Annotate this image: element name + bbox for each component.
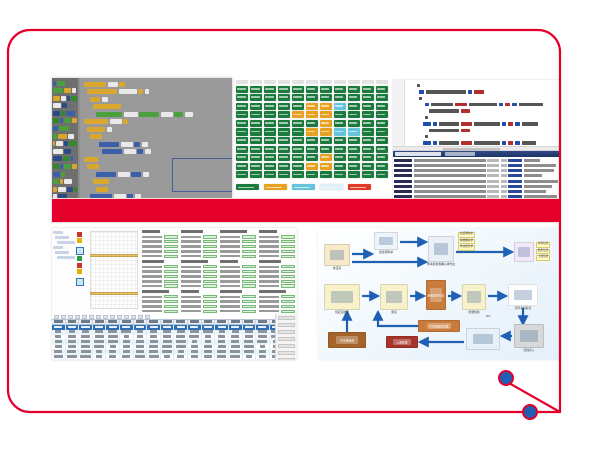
- property-value[interactable]: [164, 300, 179, 303]
- table-cell[interactable]: [174, 360, 188, 361]
- property-value[interactable]: [164, 295, 179, 298]
- property-value[interactable]: [203, 275, 218, 278]
- palette-block[interactable]: [53, 171, 77, 177]
- property-value[interactable]: [203, 265, 218, 268]
- table-toolbar-button[interactable]: [138, 315, 143, 319]
- device-node-2-icon[interactable]: [76, 278, 84, 286]
- table-column-header[interactable]: [161, 320, 175, 324]
- table-cell[interactable]: [134, 330, 148, 334]
- status-grid-cell-green[interactable]: [306, 154, 318, 161]
- code-block[interactable]: [96, 111, 230, 117]
- table-cell[interactable]: [202, 335, 216, 339]
- table-cell[interactable]: [161, 355, 175, 359]
- table-cell[interactable]: [215, 330, 229, 334]
- table-cell[interactable]: [202, 340, 216, 344]
- property-value[interactable]: [281, 270, 296, 273]
- table-cell[interactable]: [243, 360, 257, 361]
- palette-block[interactable]: [53, 110, 77, 116]
- table-cell[interactable]: [256, 340, 270, 344]
- status-grid-cell-green[interactable]: [306, 120, 318, 127]
- status-grid-cell-green[interactable]: [236, 103, 248, 110]
- property-value[interactable]: [203, 245, 218, 248]
- table-column-header[interactable]: [52, 320, 66, 324]
- table-cell[interactable]: [256, 330, 270, 334]
- table-cell[interactable]: [202, 350, 216, 354]
- table-cell[interactable]: [147, 350, 161, 354]
- table-cell[interactable]: [93, 350, 107, 354]
- table-cell[interactable]: [79, 355, 93, 359]
- status-grid-cell-green[interactable]: [376, 128, 388, 135]
- table-column-header[interactable]: [256, 320, 270, 324]
- status-grid-cell-green[interactable]: [348, 171, 360, 178]
- table-side-button[interactable]: [278, 337, 295, 341]
- status-grid-cell-green[interactable]: [250, 103, 262, 110]
- property-value[interactable]: [164, 255, 179, 258]
- status-grid-cell-orange[interactable]: [320, 103, 332, 110]
- table-side-button[interactable]: [278, 358, 295, 360]
- table-toolbar-button[interactable]: [54, 315, 59, 319]
- property-value[interactable]: [164, 265, 179, 268]
- tree-node[interactable]: [53, 246, 63, 249]
- table-row[interactable]: [52, 360, 297, 361]
- status-grid-cell-green[interactable]: [320, 86, 332, 93]
- status-grid-cell-green[interactable]: [306, 146, 318, 153]
- status-grid-cell-green[interactable]: [264, 94, 276, 101]
- status-grid-cell-orange[interactable]: [320, 128, 332, 135]
- property-value[interactable]: [281, 280, 296, 283]
- table-column-header[interactable]: [93, 320, 107, 324]
- table-cell[interactable]: [52, 355, 66, 359]
- table-cell[interactable]: [147, 345, 161, 349]
- status-grid-cell-green[interactable]: [278, 146, 290, 153]
- property-value[interactable]: [203, 295, 218, 298]
- table-cell[interactable]: [93, 340, 107, 344]
- table-cell[interactable]: [134, 345, 148, 349]
- code-block[interactable]: [84, 81, 230, 87]
- palette-block[interactable]: [53, 103, 77, 109]
- property-value[interactable]: [281, 305, 296, 308]
- status-grid-cell-orange[interactable]: [306, 103, 318, 110]
- table-cell[interactable]: [134, 335, 148, 339]
- table-cell[interactable]: [93, 360, 107, 361]
- status-grid-cell-green[interactable]: [250, 154, 262, 161]
- table-cell[interactable]: [120, 355, 134, 359]
- table-column-header[interactable]: [215, 320, 229, 324]
- flow-node-delivery-notice[interactable]: 送货通知单: [374, 232, 398, 254]
- table-cell[interactable]: [93, 335, 107, 339]
- table-cell[interactable]: [243, 330, 257, 334]
- status-grid-cell-green[interactable]: [348, 86, 360, 93]
- code-block[interactable]: [84, 119, 230, 125]
- code-block[interactable]: [99, 141, 230, 147]
- table-cell[interactable]: [229, 345, 243, 349]
- property-value[interactable]: [281, 240, 296, 243]
- table-cell[interactable]: [106, 345, 120, 349]
- table-column-header[interactable]: [229, 320, 243, 324]
- table-cell[interactable]: [174, 350, 188, 354]
- property-value[interactable]: [281, 265, 296, 268]
- status-grid-cell-green[interactable]: [292, 103, 304, 110]
- tree-node[interactable]: [55, 251, 69, 254]
- status-grid-cell-green[interactable]: [292, 120, 304, 127]
- status-grid-cell-green[interactable]: [320, 171, 332, 178]
- status-grid-cell-green[interactable]: [236, 111, 248, 118]
- status-grid-cell-green[interactable]: [278, 111, 290, 118]
- status-grid-cell-green[interactable]: [320, 146, 332, 153]
- property-value[interactable]: [203, 255, 218, 258]
- status-grid-cell-green[interactable]: [292, 146, 304, 153]
- table-toolbar-button[interactable]: [61, 315, 66, 319]
- palette-block[interactable]: [53, 118, 77, 124]
- palette-block[interactable]: [53, 148, 77, 154]
- status-grid-cell-green[interactable]: [250, 111, 262, 118]
- table-cell[interactable]: [120, 335, 134, 339]
- table-side-button[interactable]: [278, 323, 295, 327]
- status-grid-cell-cyan[interactable]: [334, 103, 346, 110]
- table-toolbar-button[interactable]: [117, 315, 122, 319]
- status-grid-cell-green[interactable]: [278, 137, 290, 144]
- source-code-editor-with-log-console[interactable]: [393, 80, 560, 200]
- property-value[interactable]: [242, 270, 257, 273]
- table-column-header[interactable]: [66, 320, 80, 324]
- table-cell[interactable]: [52, 360, 66, 361]
- table-cell[interactable]: [66, 345, 80, 349]
- status-grid-cell-green[interactable]: [376, 103, 388, 110]
- flow-node-barcode-label[interactable]: 打印条码标签: [508, 284, 538, 310]
- status-grid-cell-green[interactable]: [236, 120, 248, 127]
- status-grid-cell-green[interactable]: [334, 171, 346, 178]
- property-value[interactable]: [281, 275, 296, 278]
- status-grid-cell-orange[interactable]: [320, 120, 332, 127]
- property-value[interactable]: [203, 284, 218, 287]
- status-grid-cell-green[interactable]: [236, 154, 248, 161]
- status-grid-cell-green[interactable]: [292, 128, 304, 135]
- table-column-header[interactable]: [202, 320, 216, 324]
- property-value[interactable]: [164, 250, 179, 253]
- table-rows[interactable]: [52, 330, 297, 361]
- table-cell[interactable]: [174, 335, 188, 339]
- table-cell[interactable]: [243, 355, 257, 359]
- table-cell[interactable]: [215, 360, 229, 361]
- table-cell[interactable]: [147, 330, 161, 334]
- table-cell[interactable]: [202, 355, 216, 359]
- table-cell[interactable]: [202, 345, 216, 349]
- flow-node-supplier-desk[interactable]: 供应商: [324, 244, 350, 270]
- status-grid-cell-green[interactable]: [362, 103, 374, 110]
- code-block[interactable]: [90, 134, 230, 140]
- table-cell[interactable]: [106, 340, 120, 344]
- status-grid-cell-green[interactable]: [320, 137, 332, 144]
- table-cell[interactable]: [215, 340, 229, 344]
- table-column-header[interactable]: [243, 320, 257, 324]
- property-value[interactable]: [281, 245, 296, 248]
- status-grid-cell-green[interactable]: [250, 86, 262, 93]
- status-grid-cell-green[interactable]: [250, 146, 262, 153]
- table-toolbar-button[interactable]: [124, 315, 129, 319]
- table-cell[interactable]: [174, 340, 188, 344]
- status-grid-cell-green[interactable]: [278, 120, 290, 127]
- table-side-action-buttons[interactable]: [275, 314, 297, 360]
- status-grid-cell-green[interactable]: [236, 94, 248, 101]
- status-grid-cell-green[interactable]: [348, 163, 360, 170]
- table-cell[interactable]: [243, 345, 257, 349]
- status-grid-cell-green[interactable]: [264, 154, 276, 161]
- status-grid-cell-green[interactable]: [362, 120, 374, 127]
- table-cell[interactable]: [106, 360, 120, 361]
- table-cell[interactable]: [52, 340, 66, 344]
- table-cell[interactable]: [188, 345, 202, 349]
- property-value[interactable]: [203, 270, 218, 273]
- table-cell[interactable]: [161, 350, 175, 354]
- table-cell[interactable]: [256, 335, 270, 339]
- status-grid-cell-green[interactable]: [278, 103, 290, 110]
- code-block[interactable]: [93, 104, 230, 110]
- tree-node[interactable]: [53, 231, 63, 234]
- table-cell[interactable]: [215, 345, 229, 349]
- status-grid-cell-green[interactable]: [306, 86, 318, 93]
- log-row[interactable]: [394, 189, 559, 194]
- status-grid-cell-green[interactable]: [250, 171, 262, 178]
- status-grid-cell-green[interactable]: [348, 94, 360, 101]
- property-value[interactable]: [164, 284, 179, 287]
- table-toolbar-button[interactable]: [145, 315, 150, 319]
- log-row[interactable]: [394, 158, 559, 163]
- layout-grid-canvas[interactable]: [90, 231, 138, 309]
- property-value[interactable]: [242, 245, 257, 248]
- status-grid-cell-green[interactable]: [334, 120, 346, 127]
- table-cell[interactable]: [120, 340, 134, 344]
- status-grid-cell-green[interactable]: [264, 163, 276, 170]
- status-grid-cell-green[interactable]: [320, 94, 332, 101]
- table-cell[interactable]: [215, 355, 229, 359]
- status-grid-cell-green[interactable]: [236, 146, 248, 153]
- status-grid-cell-green[interactable]: [264, 137, 276, 144]
- status-grid-cell-green[interactable]: [334, 163, 346, 170]
- status-grid-cell-green[interactable]: [292, 94, 304, 101]
- table-toolbar-button[interactable]: [96, 315, 101, 319]
- table-cell[interactable]: [188, 360, 202, 361]
- log-row[interactable]: [394, 163, 559, 168]
- table-cell[interactable]: [229, 340, 243, 344]
- table-cell[interactable]: [188, 355, 202, 359]
- status-grid-cell-green[interactable]: [264, 171, 276, 178]
- status-grid-cell-green[interactable]: [264, 86, 276, 93]
- table-cell[interactable]: [161, 345, 175, 349]
- tree-node[interactable]: [57, 241, 75, 244]
- property-value[interactable]: [281, 310, 296, 313]
- table-cell[interactable]: [229, 350, 243, 354]
- table-cell[interactable]: [134, 340, 148, 344]
- status-grid-cell-green[interactable]: [250, 137, 262, 144]
- palette-block[interactable]: [53, 179, 77, 185]
- configuration-tree[interactable]: [53, 231, 71, 261]
- status-grid-cell-green[interactable]: [278, 128, 290, 135]
- table-cell[interactable]: [106, 355, 120, 359]
- palette-block[interactable]: [53, 194, 77, 198]
- status-grid-cell-green[interactable]: [334, 111, 346, 118]
- tree-node[interactable]: [57, 256, 75, 259]
- property-value[interactable]: [164, 275, 179, 278]
- flow-node-reject-area[interactable]: 不合格品暂存区: [418, 320, 460, 332]
- status-grid-cell-green[interactable]: [362, 146, 374, 153]
- table-cell[interactable]: [147, 360, 161, 361]
- device-node-icon[interactable]: [76, 247, 84, 255]
- table-cell[interactable]: [147, 340, 161, 344]
- property-value[interactable]: [281, 295, 296, 298]
- status-grid-cell-orange[interactable]: [306, 111, 318, 118]
- blocks-palette[interactable]: [52, 78, 78, 198]
- table-cell[interactable]: [52, 350, 66, 354]
- status-grid-cell-green[interactable]: [376, 146, 388, 153]
- table-cell[interactable]: [79, 335, 93, 339]
- log-row[interactable]: [394, 179, 559, 184]
- status-grid-cell-green[interactable]: [376, 94, 388, 101]
- table-cell[interactable]: [174, 355, 188, 359]
- table-cell[interactable]: [243, 350, 257, 354]
- status-grid-cell-orange[interactable]: [320, 154, 332, 161]
- code-block[interactable]: [90, 194, 230, 199]
- table-cell[interactable]: [106, 350, 120, 354]
- property-value[interactable]: [203, 250, 218, 253]
- status-grid-cell-cyan[interactable]: [348, 128, 360, 135]
- status-grid-cell-orange[interactable]: [292, 111, 304, 118]
- table-cell[interactable]: [229, 360, 243, 361]
- table-cell[interactable]: [66, 335, 80, 339]
- table-cell[interactable]: [161, 360, 175, 361]
- table-column-header[interactable]: [147, 320, 161, 324]
- status-grid-cell-green[interactable]: [348, 120, 360, 127]
- property-value[interactable]: [164, 310, 179, 313]
- status-grid-cell-green[interactable]: [348, 103, 360, 110]
- table-column-header[interactable]: [134, 320, 148, 324]
- property-value[interactable]: [242, 280, 257, 283]
- property-value[interactable]: [164, 235, 179, 238]
- status-grid-cell-green[interactable]: [250, 120, 262, 127]
- table-cell[interactable]: [66, 330, 80, 334]
- flow-node-putaway[interactable]: [466, 328, 500, 350]
- table-cell[interactable]: [79, 345, 93, 349]
- status-grid-cell-green[interactable]: [376, 120, 388, 127]
- table-cell[interactable]: [147, 355, 161, 359]
- status-grid-cell-green[interactable]: [348, 146, 360, 153]
- status-grid-cell-green[interactable]: [278, 94, 290, 101]
- data-table[interactable]: [52, 314, 297, 360]
- palette-block[interactable]: [53, 95, 77, 101]
- table-column-header[interactable]: [174, 320, 188, 324]
- status-grid-cell-green[interactable]: [306, 137, 318, 144]
- property-value[interactable]: [242, 255, 257, 258]
- table-cell[interactable]: [243, 335, 257, 339]
- table-cell[interactable]: [66, 350, 80, 354]
- table-cell[interactable]: [243, 340, 257, 344]
- status-grid-cell-green[interactable]: [376, 137, 388, 144]
- status-grid-cell-orange[interactable]: [320, 163, 332, 170]
- code-block[interactable]: [87, 126, 230, 132]
- table-toolbar-button[interactable]: [103, 315, 108, 319]
- blocks-canvas[interactable]: [80, 78, 232, 198]
- table-cell[interactable]: [52, 345, 66, 349]
- status-grid-cell-green[interactable]: [278, 171, 290, 178]
- property-value[interactable]: [203, 280, 218, 283]
- palette-block[interactable]: [53, 80, 77, 86]
- flow-node-supply-transport[interactable]: 供应商送货: [324, 284, 360, 314]
- status-grid-cell-green[interactable]: [292, 86, 304, 93]
- table-cell[interactable]: [188, 330, 202, 334]
- status-grid-cell-green[interactable]: [334, 154, 346, 161]
- table-column-header[interactable]: [106, 320, 120, 324]
- status-grid-cell-green[interactable]: [236, 163, 248, 170]
- status-grid-cell-green[interactable]: [250, 128, 262, 135]
- table-cell[interactable]: [202, 360, 216, 361]
- status-grid-cell-green[interactable]: [278, 154, 290, 161]
- property-value[interactable]: [164, 270, 179, 273]
- status-grid-cell-green[interactable]: [236, 128, 248, 135]
- table-cell[interactable]: [66, 355, 80, 359]
- property-value[interactable]: [242, 284, 257, 287]
- table-cell[interactable]: [134, 360, 148, 361]
- status-grid-cell-green[interactable]: [334, 146, 346, 153]
- status-grid-cell-green[interactable]: [334, 94, 346, 101]
- table-cell[interactable]: [52, 330, 66, 334]
- palette-block[interactable]: [53, 141, 77, 147]
- code-block[interactable]: [90, 96, 230, 102]
- status-grid-cell-green[interactable]: [376, 163, 388, 170]
- table-toolbar-button[interactable]: [110, 315, 115, 319]
- table-toolbar-button[interactable]: [131, 315, 136, 319]
- table-cell[interactable]: [93, 330, 107, 334]
- palette-block[interactable]: [53, 156, 77, 162]
- status-grid-cell-cyan[interactable]: [334, 128, 346, 135]
- ladder-device-column[interactable]: [74, 230, 88, 310]
- status-grid-cell-green[interactable]: [264, 103, 276, 110]
- table-toolbar-button[interactable]: [75, 315, 80, 319]
- status-grid-cell-green[interactable]: [292, 154, 304, 161]
- table-cell[interactable]: [147, 335, 161, 339]
- table-cell[interactable]: [161, 330, 175, 334]
- status-grid-cell-green[interactable]: [348, 137, 360, 144]
- palette-block[interactable]: [53, 133, 77, 139]
- flow-node-receiving-desk[interactable]: 整单及验收确认单作业: [428, 236, 454, 266]
- table-cell[interactable]: [120, 360, 134, 361]
- status-grid-cell-green[interactable]: [334, 86, 346, 93]
- status-grid-cell-green[interactable]: [292, 171, 304, 178]
- table-cell[interactable]: [215, 335, 229, 339]
- status-grid-cell-green[interactable]: [292, 137, 304, 144]
- device-status-grid[interactable]: [236, 80, 388, 200]
- table-cell[interactable]: [256, 360, 270, 361]
- table-cell[interactable]: [79, 360, 93, 361]
- table-cell[interactable]: [188, 335, 202, 339]
- status-grid-body[interactable]: [236, 86, 388, 179]
- table-cell[interactable]: [93, 355, 107, 359]
- log-row[interactable]: [394, 174, 559, 179]
- status-grid-cell-green[interactable]: [236, 137, 248, 144]
- property-value[interactable]: [203, 235, 218, 238]
- table-cell[interactable]: [79, 330, 93, 334]
- table-cell[interactable]: [229, 355, 243, 359]
- status-grid-cell-green[interactable]: [278, 163, 290, 170]
- table-cell[interactable]: [188, 350, 202, 354]
- flow-node-reject-store[interactable]: 不合格品库: [328, 332, 366, 348]
- log-console-rows[interactable]: [393, 157, 560, 200]
- table-side-button[interactable]: [278, 316, 295, 320]
- table-cell[interactable]: [174, 330, 188, 334]
- property-value[interactable]: [281, 255, 296, 258]
- table-cell[interactable]: [106, 335, 120, 339]
- property-groups[interactable]: [142, 230, 295, 310]
- property-value[interactable]: [242, 235, 257, 238]
- table-cell[interactable]: [256, 355, 270, 359]
